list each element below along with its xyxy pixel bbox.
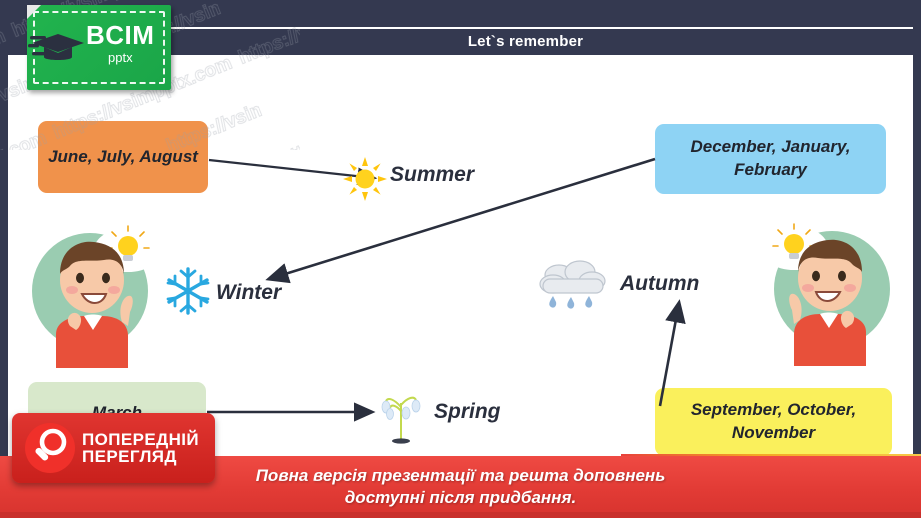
season-label-spring: Spring (434, 400, 501, 424)
preview-badge-line2: ПЕРЕГЛЯД (82, 448, 199, 465)
logo-wordmark: BCIM pptx (86, 22, 154, 64)
purchase-notice-line1: Повна версія презентації та решта доповн… (256, 465, 666, 487)
month-box-winter[interactable]: December, January, February (655, 124, 886, 194)
preview-badge-line1: ПОПЕРЕДНІЙ (82, 431, 199, 448)
snowdrop-flower-icon (378, 383, 424, 445)
season-label-autumn: Autumn (620, 272, 699, 296)
page-title: Let`s remember (468, 33, 583, 50)
logo-corner-fold (27, 5, 41, 19)
logo-sub-text: pptx (108, 51, 154, 64)
month-box-summer[interactable]: June, July, August (38, 121, 208, 193)
thinking-boy-illustration (756, 216, 904, 366)
season-label-summer: Summer (390, 163, 474, 187)
slide-header-band: Let`s remember (138, 27, 913, 54)
season-label-winter: Winter (216, 281, 281, 305)
thinking-boy-illustration (18, 218, 166, 368)
preview-badge[interactable]: ПОПЕРЕДНІЙ ПЕРЕГЛЯД (12, 413, 215, 483)
sun-icon (343, 157, 387, 201)
banner-bottom-strip (0, 512, 921, 518)
preview-badge-text: ПОПЕРЕДНІЙ ПЕРЕГЛЯД (82, 431, 199, 466)
logo-brand-text: BCIM (86, 22, 154, 48)
snowflake-icon (163, 266, 213, 316)
purchase-notice-line2: доступні після придбання. (345, 487, 576, 509)
month-box-autumn[interactable]: September, October, November (655, 388, 892, 456)
magnifier-icon (24, 422, 76, 474)
rain-cloud-icon (537, 259, 609, 317)
graduation-cap-icon (28, 26, 90, 68)
slide-root: Let`s remember BCIM pptx June, July, Aug… (0, 0, 921, 518)
